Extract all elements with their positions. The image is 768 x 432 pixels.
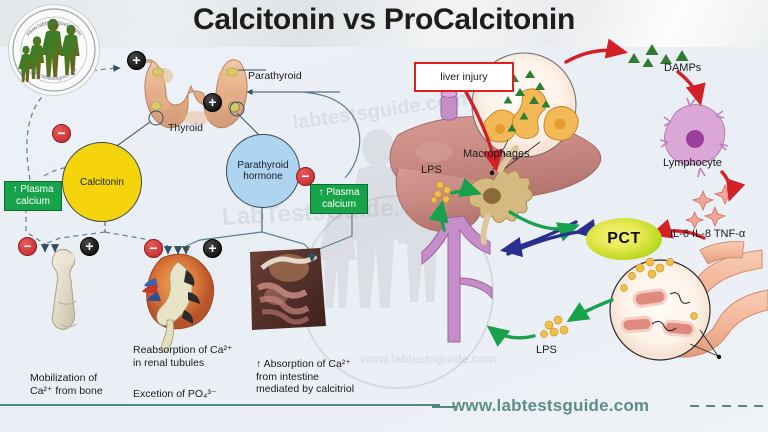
footer-site-url: www.labtestsguide.com [452, 396, 649, 416]
pth-label: Parathyroid hormone [237, 160, 288, 182]
lps-gut-label: LPS [536, 344, 557, 357]
liver-injury-box: liver injury [414, 62, 514, 92]
plasma-calcium-box-right: ↑ Plasma calcium [310, 184, 368, 214]
kidney-illustration [142, 254, 214, 352]
damps-label: DAMPs [664, 62, 701, 75]
lps-particles-gut [541, 316, 568, 337]
lps-liver-label: LPS [421, 164, 442, 177]
logo-graphic: www.labtestsguide.com www.labtestsguide.… [9, 5, 99, 95]
kidney-caption-2: Excetion of PO₄³⁻ [133, 388, 253, 401]
cytokines-label: IL-6 IL-8 TNF-α [670, 228, 745, 241]
thyroid-label: Thyroid [168, 122, 203, 135]
minus-badge-kidney: − [144, 239, 163, 258]
site-logo[interactable]: www.labtestsguide.com www.labtestsguide.… [8, 4, 100, 96]
intestine-caption: ↑ Absorption of Ca²⁺ from intestine medi… [256, 358, 396, 396]
thyroid-gland-illustration [142, 60, 247, 128]
plus-badge-bone: + [80, 237, 99, 256]
kidney-caption-1: Reabsorption of Ca²⁺ in renal tubules [133, 344, 253, 369]
parathyroid-hormone-node[interactable]: Parathyroid hormone [226, 134, 300, 208]
minus-badge-pth: − [296, 167, 315, 186]
macrophages-label: Macrophages [463, 148, 530, 161]
calcitonin-label: Calcitonin [80, 177, 124, 188]
pct-node[interactable]: PCT [586, 218, 662, 260]
footer-rule-left [0, 404, 440, 406]
calcitonin-node[interactable]: Calcitonin [62, 142, 142, 222]
bone-illustration [52, 249, 76, 329]
pct-label: PCT [607, 230, 641, 248]
diagram-canvas: LabTestsGuide.com labtestsguide.com www.… [0, 0, 768, 432]
minus-badge-bone: − [18, 237, 37, 256]
intestine-illustration [250, 248, 326, 330]
liver-injury-label: liver injury [440, 71, 487, 83]
plasma-calcium-left-label: ↑ Plasma calcium [12, 184, 53, 208]
lymphocyte-label: Lymphocyte [663, 157, 722, 170]
page-title: Calcitonin vs ProCalcitonin [0, 3, 768, 37]
plus-badge-parathyroid: + [203, 93, 222, 112]
parathyroid-label: Parathyroid [248, 70, 302, 83]
minus-badge-calcitonin: − [52, 124, 71, 143]
plus-badge-kidney: + [203, 239, 222, 258]
plus-badge-thyroid: + [127, 51, 146, 70]
footer-line-right [690, 405, 768, 407]
cytokine-particles [686, 185, 735, 228]
plasma-calcium-right-label: ↑ Plasma calcium [318, 187, 359, 211]
plasma-calcium-box-left: ↑ Plasma calcium [4, 181, 62, 211]
bone-caption: Mobilization of Ca²⁺ from bone [30, 372, 140, 397]
